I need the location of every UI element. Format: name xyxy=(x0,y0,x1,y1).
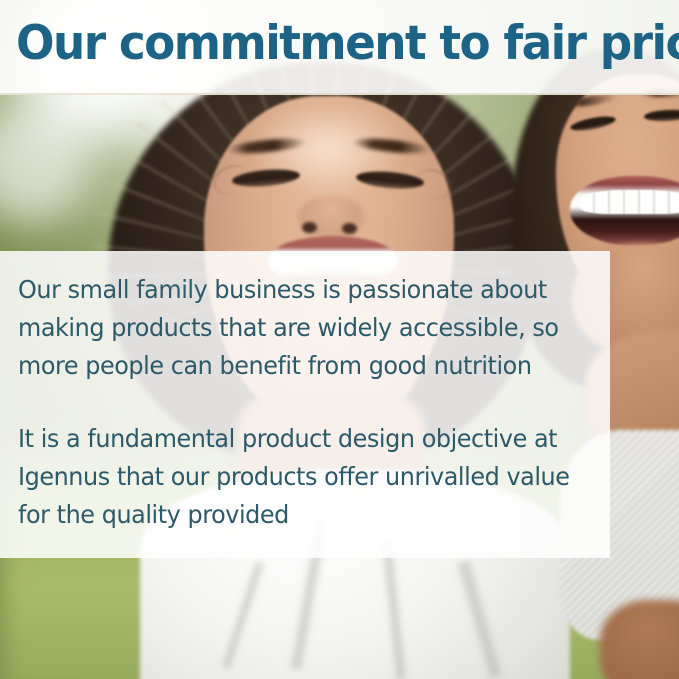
woman-nose xyxy=(298,196,364,240)
woman-nostril-left xyxy=(302,222,317,233)
header-band-divider xyxy=(0,93,679,95)
overlay-paragraph-2: It is a fundamental product design objec… xyxy=(18,420,582,534)
woman-nostril-right xyxy=(342,223,357,234)
overlay-paragraph-1: Our small family business is passionate … xyxy=(18,271,582,385)
child-teeth xyxy=(580,190,679,214)
brand-image-canvas: Our commitment to fair pricing Our small… xyxy=(0,0,679,679)
child-shoulder xyxy=(600,600,679,679)
text-overlay-content: Our small family business is passionate … xyxy=(18,271,596,534)
child-nose xyxy=(604,146,646,176)
text-overlay-panel: Our small family business is passionate … xyxy=(0,251,610,558)
page-title: Our commitment to fair pricing xyxy=(16,13,653,75)
